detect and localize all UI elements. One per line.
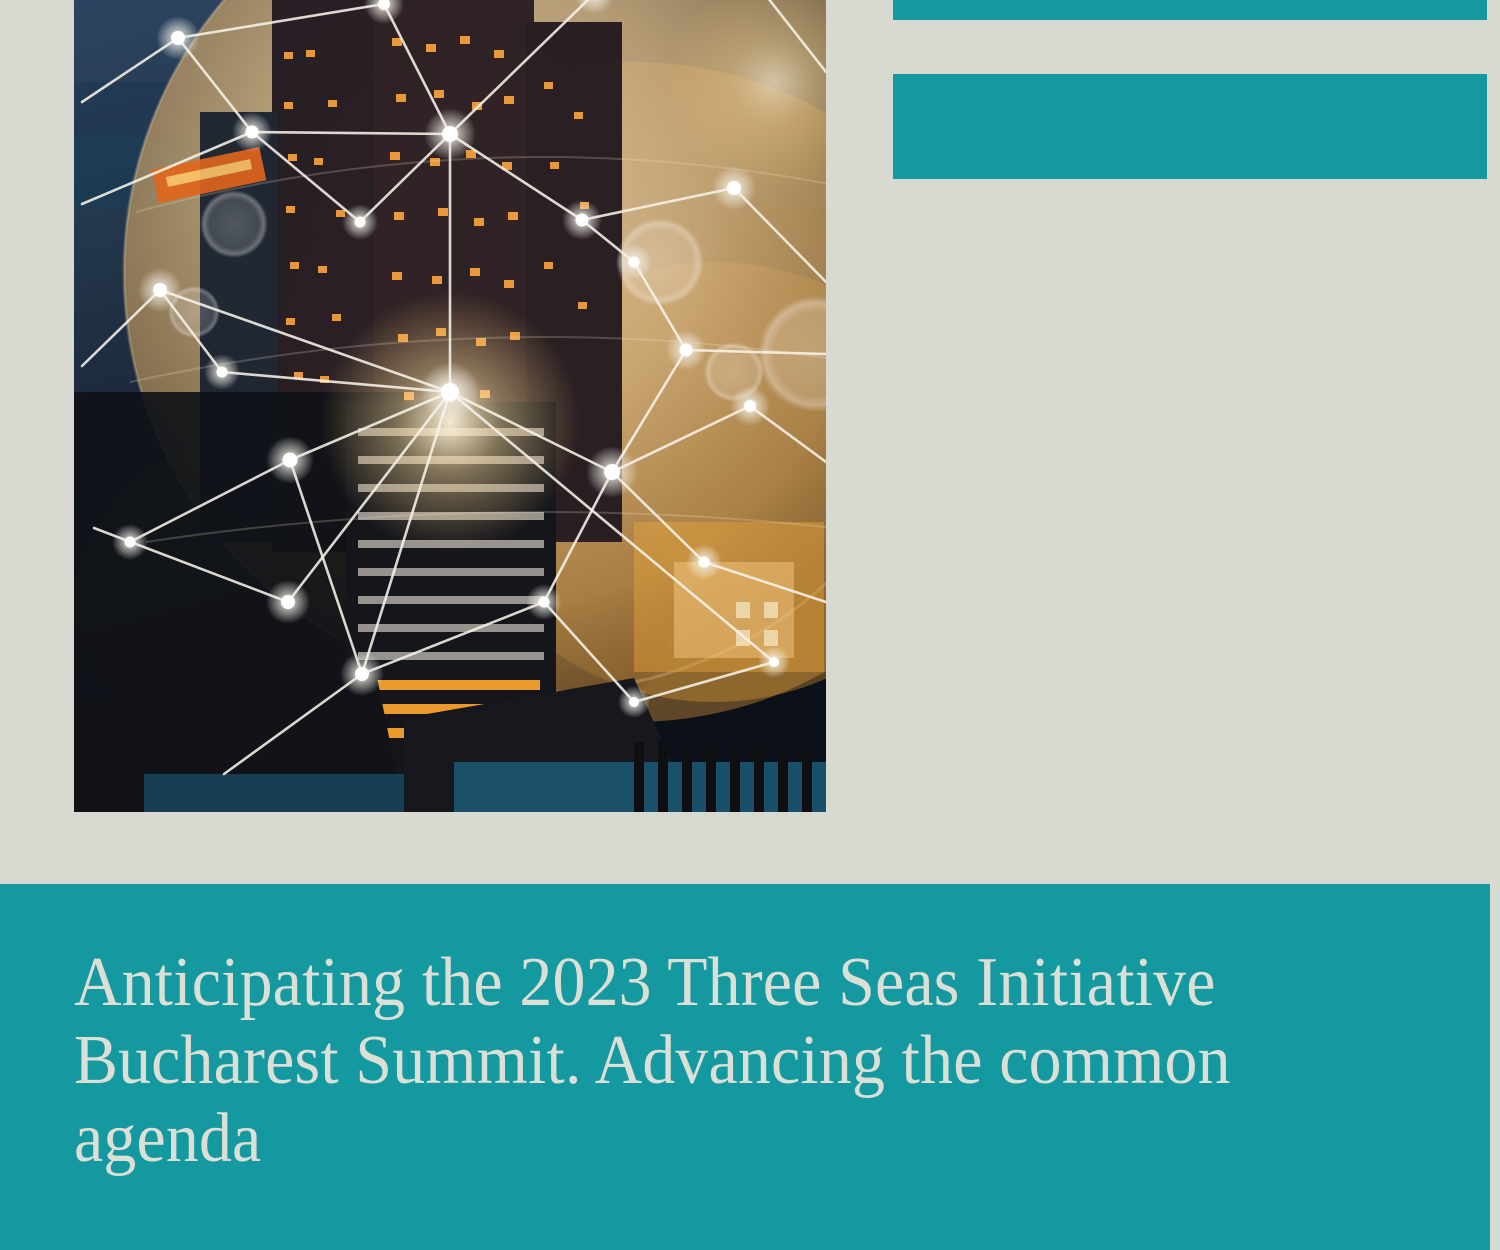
- title-band: Anticipating the 2023 Three Seas Initiat…: [0, 884, 1490, 1250]
- hero-image: [74, 0, 826, 812]
- second-accent-bar: [893, 74, 1487, 179]
- top-accent-bar: [893, 0, 1487, 20]
- slide-root: Anticipating the 2023 Three Seas Initiat…: [0, 0, 1500, 1250]
- cityscape-network-illustration: [74, 0, 826, 812]
- page-title: Anticipating the 2023 Three Seas Initiat…: [74, 944, 1324, 1178]
